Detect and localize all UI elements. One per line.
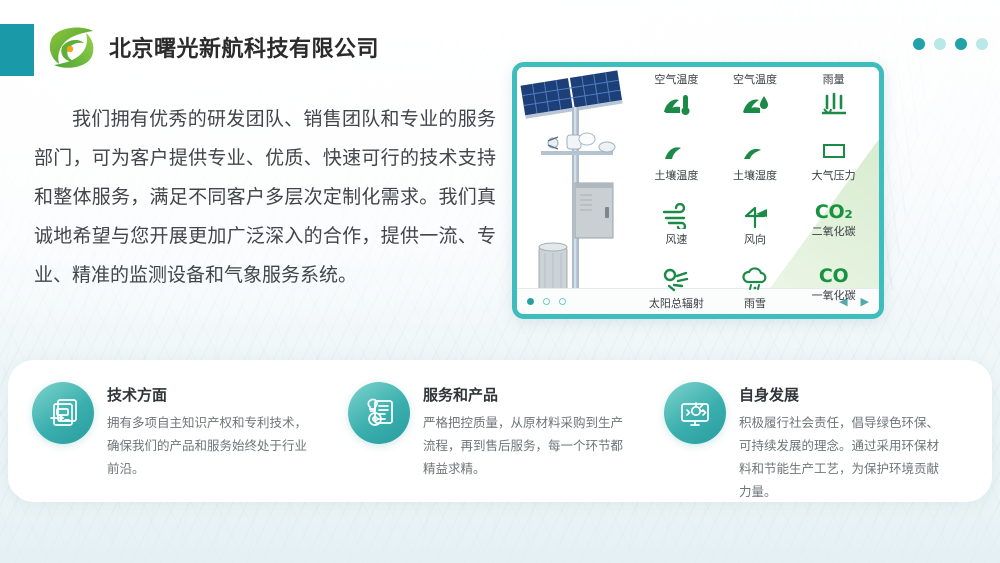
sensor-rain-snow[interactable]: 雨雪 [716, 265, 795, 311]
sensor-label: 太阳总辐射 [649, 297, 704, 311]
feature-card-development[interactable]: 自身发展 积极履行社会责任，倡导绿色环保、可持续发展的理念。通过采用环保材料和节… [658, 382, 974, 503]
co-icon: CO [819, 265, 849, 287]
product-carousel-panel[interactable]: 空气温度 空气温度 [512, 62, 884, 319]
rainfall-icon [819, 89, 849, 119]
wind-speed-icon [660, 201, 692, 231]
carousel-dot-active[interactable] [527, 298, 534, 305]
site-header: 北京曙光新航科技有限公司 [45, 22, 379, 72]
decor-dot [934, 38, 946, 50]
card-text: 严格把控质量，从原材料采购到生产流程，再到售后服务，每一个环节都精益求精。 [423, 411, 628, 480]
card-body: 技术方面 拥有多项自主知识产权和专利技术，确保我们的产品和服务始终处于行业前沿。 [107, 382, 312, 480]
card-title: 自身发展 [739, 384, 944, 405]
air-temperature-icon [661, 89, 691, 119]
decor-dot [976, 38, 988, 50]
monitor-gear-icon [664, 382, 726, 444]
sensor-label: 雨量 [823, 73, 845, 87]
card-title: 技术方面 [107, 384, 312, 405]
sensor-co2[interactable]: CO₂ 二氧化碳 [794, 201, 873, 239]
company-name: 北京曙光新航科技有限公司 [109, 31, 379, 63]
documents-transfer-icon [32, 382, 94, 444]
air-pressure-icon [819, 137, 849, 167]
bottom-fade [0, 501, 1000, 563]
sensor-co[interactable]: CO 一氧化碳 [794, 265, 873, 303]
sensor-air-pressure[interactable]: 大气压力 [794, 137, 873, 183]
soil-temperature-icon [661, 137, 691, 167]
sensor-air-humidity[interactable]: 空气温度 [716, 73, 795, 119]
sensor-icon-grid: 空气温度 空气温度 [635, 67, 879, 314]
sensor-air-temperature[interactable]: 空气温度 [637, 73, 716, 119]
sensor-label: 土壤温度 [654, 169, 698, 183]
sensor-label: 空气温度 [733, 73, 777, 87]
panel-content: 空气温度 空气温度 [517, 67, 879, 314]
sensor-label: 风向 [744, 233, 766, 247]
feature-cards: 技术方面 拥有多项自主知识产权和专利技术，确保我们的产品和服务始终处于行业前沿。… [8, 360, 992, 502]
page-root: 北京曙光新航科技有限公司 我们拥有优秀的研发团队、销售团队和专业的服务部门，可为… [0, 0, 1000, 563]
card-text: 拥有多项自主知识产权和专利技术，确保我们的产品和服务始终处于行业前沿。 [107, 411, 312, 480]
rain-snow-icon [740, 265, 770, 295]
sensor-wind-direction[interactable]: 风向 [716, 201, 795, 247]
sensor-label: 一氧化碳 [812, 289, 856, 303]
carousel-dots[interactable] [527, 298, 566, 305]
card-body: 自身发展 积极履行社会责任，倡导绿色环保、可持续发展的理念。通过采用环保材料和节… [739, 382, 944, 503]
feature-card-service[interactable]: 服务和产品 严格把控质量，从原材料采购到生产流程，再到售后服务，每一个环节都精益… [342, 382, 658, 480]
air-humidity-icon [740, 89, 770, 119]
decor-dot [955, 38, 967, 50]
soil-moisture-icon [740, 137, 770, 167]
sensor-soil-moisture[interactable]: 土壤湿度 [716, 137, 795, 183]
sensor-label: 大气压力 [812, 169, 856, 183]
solar-radiation-icon [661, 265, 691, 295]
card-text: 积极履行社会责任，倡导绿色环保、可持续发展的理念。通过采用环保材料和节能生产工艺… [739, 411, 944, 503]
sensor-wind-speed[interactable]: 风速 [637, 201, 716, 247]
carousel-dot[interactable] [559, 298, 566, 305]
sensor-solar-radiation[interactable]: 太阳总辐射 [637, 265, 716, 311]
feature-card-technology[interactable]: 技术方面 拥有多项自主知识产权和专利技术，确保我们的产品和服务始终处于行业前沿。 [26, 382, 342, 480]
sensor-label: 风速 [665, 233, 687, 247]
idea-quality-icon [348, 382, 410, 444]
sensor-label: 雨雪 [744, 297, 766, 311]
intro-paragraph: 我们拥有优秀的研发团队、销售团队和专业的服务部门，可为客户提供专业、优质、快速可… [34, 100, 496, 295]
sensor-label: 土壤湿度 [733, 169, 777, 183]
card-title: 服务和产品 [423, 384, 628, 405]
green-swirl-leaf-logo-icon [45, 22, 97, 72]
card-body: 服务和产品 严格把控质量，从原材料采购到生产流程，再到售后服务，每一个环节都精益… [423, 382, 628, 480]
decor-dot [913, 38, 925, 50]
co2-icon: CO₂ [815, 201, 853, 223]
wind-direction-icon [740, 201, 770, 231]
weather-station-photo [517, 67, 635, 314]
sensor-label: 空气温度 [654, 73, 698, 87]
accent-bar [0, 24, 34, 76]
sensor-soil-temperature[interactable]: 土壤温度 [637, 137, 716, 183]
sensor-rainfall[interactable]: 雨量 [794, 73, 873, 119]
carousel-dot[interactable] [543, 298, 550, 305]
sensor-label: 二氧化碳 [812, 225, 856, 239]
decorative-dots [913, 38, 988, 50]
